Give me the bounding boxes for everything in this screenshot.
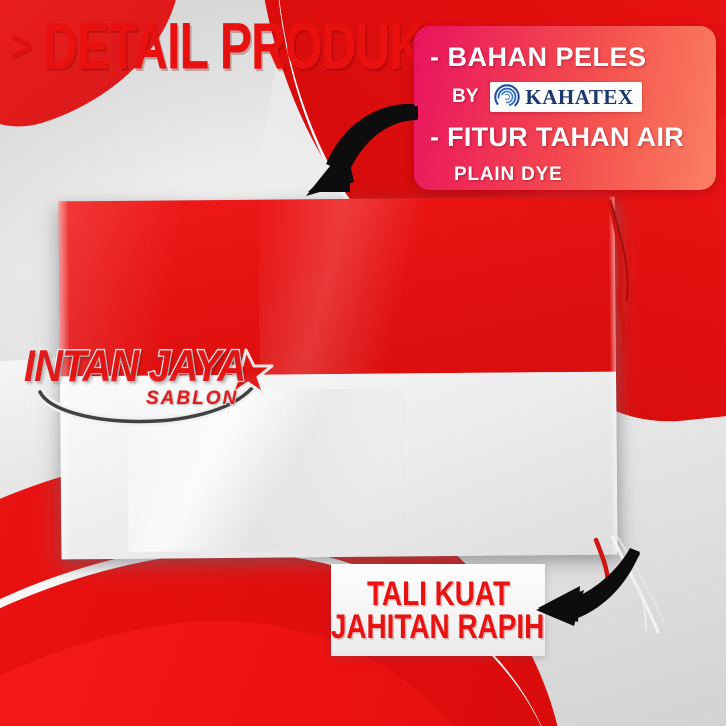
watermark-brand: INTAN JAYA (24, 342, 245, 392)
product-detail-image: > DETAIL PRODUK - BAHAN PELES BY KAHATEX… (0, 0, 726, 726)
spec-feature-2: - FITUR TAHAN AIR (430, 122, 716, 153)
spec-panel: - BAHAN PELES BY KAHATEX - FITUR TAHAN A… (414, 26, 716, 190)
curved-arrow-top-icon (300, 96, 424, 202)
kahatex-logo: KAHATEX (490, 82, 641, 112)
curved-arrow-bottom-icon (522, 548, 640, 632)
caption-box: TALI KUAT JAHITAN RAPIH (331, 564, 545, 656)
spec-brand-row: BY KAHATEX (452, 82, 716, 112)
caption-line-1: TALI KUAT (366, 576, 509, 611)
caption-line-2: JAHITAN RAPIH (331, 609, 544, 644)
spec-by-label: BY (452, 86, 478, 108)
page-title: DETAIL PRODUK (43, 13, 423, 79)
spec-feature-1: - BAHAN PELES (430, 42, 716, 73)
product-tie-upper (596, 196, 676, 436)
watermark-logo: INTAN JAYA SABLON (18, 336, 286, 428)
kahatex-wordmark: KAHATEX (525, 87, 633, 108)
chevron-right-icon: > (11, 23, 33, 69)
watermark-sub: SABLON (146, 388, 238, 410)
kahatex-spiral-icon (494, 84, 520, 110)
spec-feature-3: PLAIN DYE (454, 164, 716, 186)
